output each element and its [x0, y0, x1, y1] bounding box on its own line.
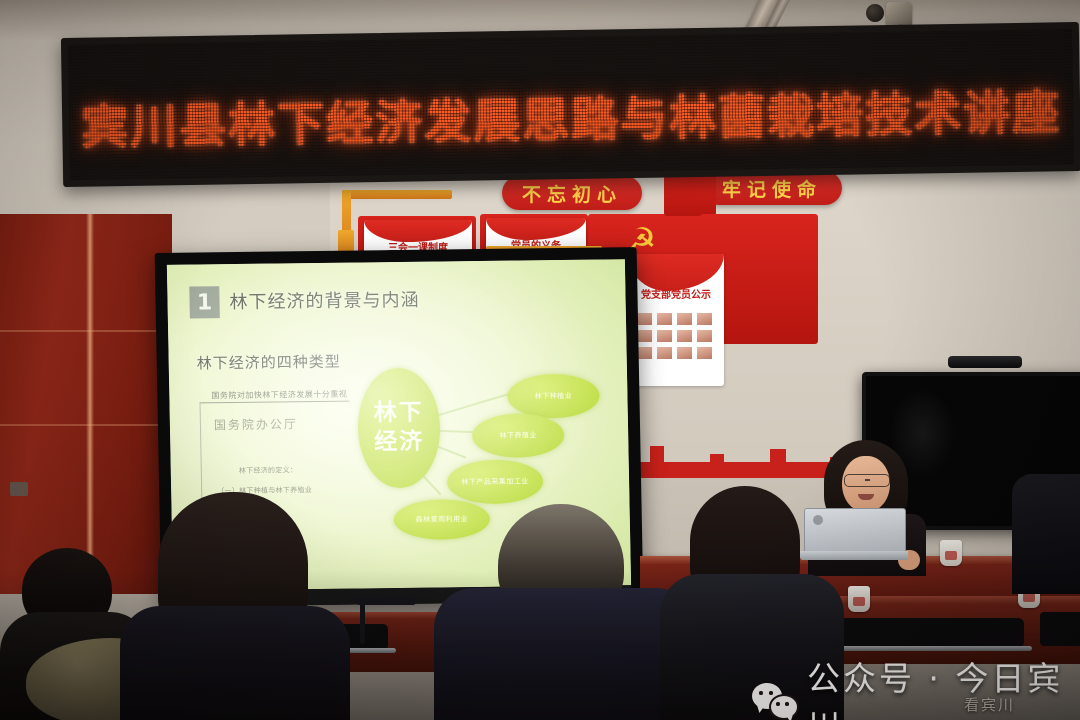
led-banner: 宾川县林下经济发展思路与林菌栽培技术讲座 [61, 22, 1080, 187]
watermark-text: 公众号 · 今日宾川 [807, 652, 1080, 720]
gold-frame-top-icon [342, 190, 452, 199]
wood-pillar-highlight [86, 214, 94, 594]
laptop-base [800, 551, 908, 560]
watermark: 公众号 · 今日宾川 [752, 652, 1080, 720]
glasses-icon [844, 474, 890, 487]
watermark-subtext: 看宾川 [964, 694, 1015, 715]
presenter-laptop[interactable] [804, 508, 904, 560]
slogan-buwangchuxin: 不忘初心 [502, 176, 642, 210]
ceiling-mount-dot-icon [866, 4, 884, 22]
info-card-title: 党支部党员公示 [628, 286, 724, 301]
laptop-lid [804, 508, 906, 554]
wechat-icon [752, 683, 795, 717]
paper-cup [940, 540, 962, 566]
tv-stand [948, 356, 1022, 368]
member-photo-grid [636, 312, 713, 360]
info-card-gongshi-2: 党支部党员公示 [628, 254, 724, 386]
screenshot-root: 不忘初心 牢记使命 ☭ 三会一课制度 党员的义务 党员的权利 党支部党员公 [0, 0, 1080, 720]
wall-socket-icon [10, 482, 28, 496]
red-backing-board-top [664, 172, 716, 216]
